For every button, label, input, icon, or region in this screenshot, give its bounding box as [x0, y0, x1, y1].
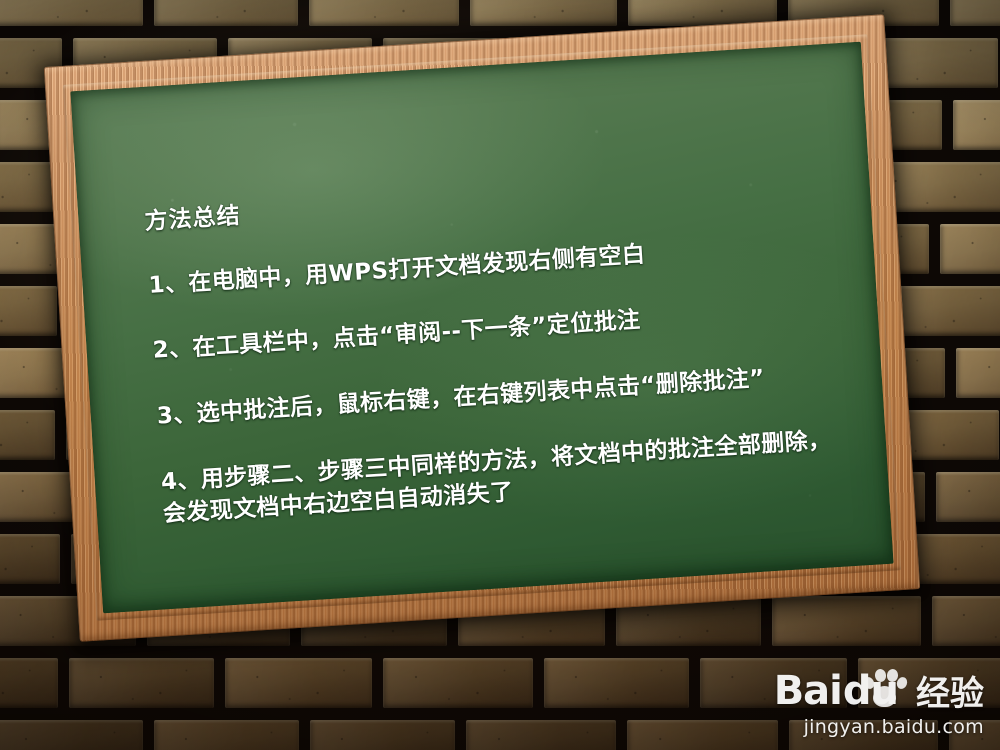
step-item-1: 1、在电脑中，用WPS打开文档发现右侧有空白: [148, 226, 841, 302]
brick: [69, 658, 214, 708]
step-item-2: 2、在工具栏中，点击“审阅--下一条”定位批注: [152, 292, 845, 368]
brick: [0, 534, 60, 584]
brick: [225, 658, 372, 708]
brick: [950, 0, 1000, 26]
brick: [0, 286, 57, 336]
brick: [309, 0, 459, 26]
baidu-jingyan-watermark: Bai du 经验 jingyan.baidu.com: [774, 667, 984, 738]
step-item-4: 4、用步骤二、步骤三中同样的方法，将文档中的批注全部删除，会发现文档中右边空白自…: [160, 423, 855, 532]
chalkboard: 方法总结 1、在电脑中，用WPS打开文档发现右侧有空白 2、在工具栏中，点击“审…: [44, 14, 921, 642]
brick: [936, 472, 1000, 522]
bear-paw-icon: [862, 667, 908, 711]
baidu-logo: Bai du 经验: [774, 667, 984, 711]
board-title: 方法总结: [144, 166, 836, 237]
baidu-logo-bai: Bai: [774, 671, 842, 711]
brick: [627, 720, 778, 750]
brick: [154, 0, 298, 26]
brick: [383, 658, 533, 708]
chalkboard-content: 方法总结 1、在电脑中，用WPS打开文档发现右侧有空白 2、在工具栏中，点击“审…: [144, 166, 855, 532]
step-item-3: 3、选中批注后，鼠标右键，在右键列表中点击“删除批注”: [156, 357, 849, 433]
brick: [940, 224, 1000, 274]
brick: [310, 720, 455, 750]
chalkboard-surface: 方法总结 1、在电脑中，用WPS打开文档发现右侧有空白 2、在工具栏中，点击“审…: [70, 42, 893, 614]
brick: [953, 100, 1000, 150]
watermark-url: jingyan.baidu.com: [774, 716, 984, 738]
brick: [0, 720, 143, 750]
brick: [956, 348, 1000, 398]
brick: [154, 720, 299, 750]
brick: [932, 596, 1000, 646]
brick: [466, 720, 616, 750]
brick: [0, 0, 143, 26]
brick: [470, 0, 617, 26]
brick: [0, 410, 55, 460]
brick: [0, 658, 58, 708]
baidu-logo-cn: 经验: [916, 677, 984, 711]
brick: [544, 658, 689, 708]
